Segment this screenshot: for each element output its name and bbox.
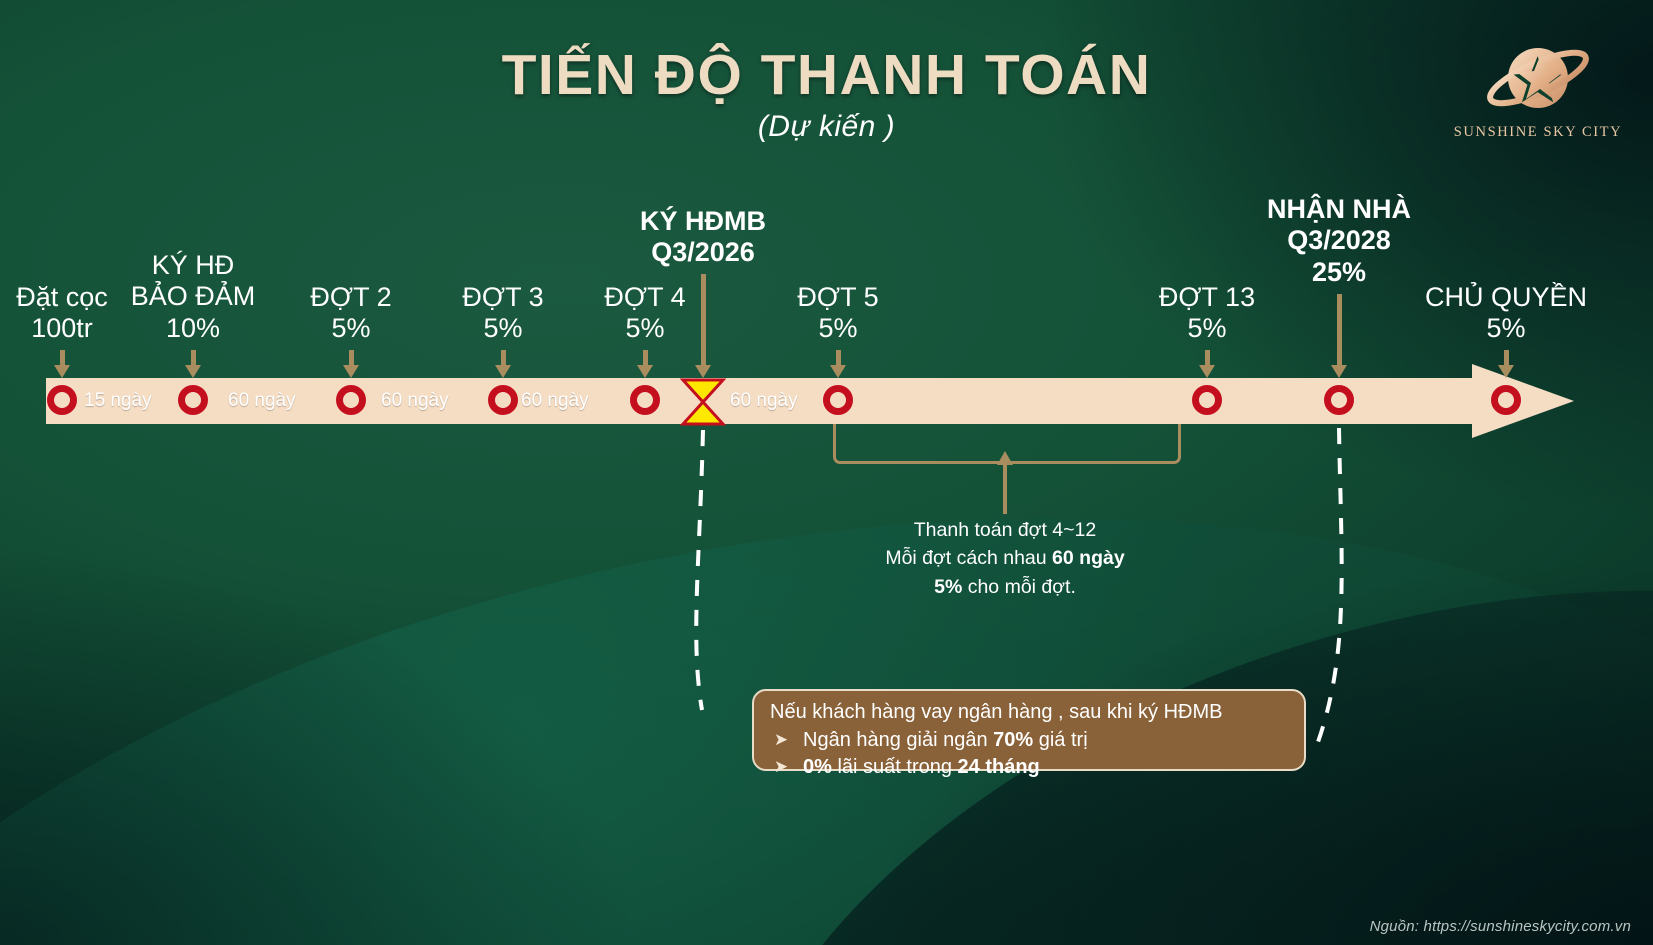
timeline-label-dot-2: ĐỢT 25%: [310, 282, 391, 345]
bank-callout-row-2: ➤ 0% lãi suất trong 24 tháng: [770, 754, 1288, 780]
bank-loan-callout: Nếu khách hàng vay ngân hàng , sau khi k…: [752, 689, 1306, 771]
timeline-label-dot-4-line-1: ĐỢT 4: [604, 282, 685, 313]
timeline-label-dot-4-line-2: 5%: [604, 313, 685, 344]
hourglass-icon: [680, 378, 726, 426]
timeline-gap-gap-1: 15 ngày: [84, 390, 152, 412]
bank-row-1-suffix: giá trị: [1033, 729, 1087, 751]
annotation-line-3-bold: 5%: [934, 576, 962, 598]
timeline-gap-gap-2: 60 ngày: [228, 390, 296, 412]
timeline-marker-hourglass-ky-hdmb[interactable]: [680, 378, 726, 426]
page-subtitle: (Dự kiến ): [0, 110, 1653, 144]
lead-arrow-dot-4: [643, 350, 648, 366]
bank-row-1-text: Ngân hàng giải ngân 70% giá trị: [803, 727, 1088, 753]
timeline-marker-dot-2[interactable]: [336, 385, 366, 415]
timeline-label-dot-3: ĐỢT 35%: [462, 282, 543, 345]
bank-callout-title: Nếu khách hàng vay ngân hàng , sau khi k…: [770, 700, 1288, 726]
timeline-label-dot-4: ĐỢT 45%: [604, 282, 685, 345]
bank-row-2-bold2: 24 tháng: [958, 756, 1040, 778]
page-title: TIẾN ĐỘ THANH TOÁN: [0, 42, 1653, 108]
timeline-label-dot-5: ĐỢT 55%: [797, 282, 878, 345]
timeline-label-nhan-nha-line-2: Q3/2028: [1267, 225, 1411, 256]
bank-row-1-bold: 70%: [993, 729, 1033, 751]
bank-row-1-prefix: Ngân hàng giải ngân: [803, 729, 993, 751]
timeline-label-chu-quyen-line-1: CHỦ QUYỀN: [1425, 282, 1587, 313]
timeline-label-ky-hdmb-line-2: Q3/2026: [640, 237, 766, 268]
bank-row-2-text: 0% lãi suất trong 24 tháng: [803, 754, 1040, 780]
timeline-label-ky-hd-bao-dam-line-2: BẢO ĐẢM: [131, 281, 256, 312]
timeline-label-dot-2-line-2: 5%: [310, 313, 391, 344]
timeline-marker-dot-3[interactable]: [488, 385, 518, 415]
bank-callout-row-1: ➤ Ngân hàng giải ngân 70% giá trị: [770, 727, 1288, 753]
bullet-arrow-icon: ➤: [770, 729, 792, 751]
lead-arrow-dot-5: [836, 350, 841, 366]
timeline-marker-dat-coc[interactable]: [47, 385, 77, 415]
annotation-line-2-bold: 60 ngày: [1052, 547, 1125, 569]
annotation-line-3: 5% cho mỗi đợt.: [885, 573, 1124, 601]
lead-arrow-nhan-nha: [1337, 294, 1342, 366]
timeline-label-dot-13: ĐỢT 135%: [1159, 282, 1255, 345]
timeline-label-dat-coc-line-1: Đặt cọc: [16, 282, 108, 313]
lead-arrow-dot-2: [349, 350, 354, 366]
lead-arrow-dot-3: [501, 350, 506, 366]
timeline-label-ky-hdmb: KÝ HĐMBQ3/2026: [640, 206, 766, 269]
timeline-label-dot-3-line-2: 5%: [462, 313, 543, 344]
timeline-label-chu-quyen-line-2: 5%: [1425, 313, 1587, 344]
timeline-label-nhan-nha: NHẬN NHÀQ3/202825%: [1267, 194, 1411, 288]
annotation-line-2-prefix: Mỗi đợt cách nhau: [885, 547, 1052, 569]
timeline-label-ky-hdmb-line-1: KÝ HĐMB: [640, 206, 766, 237]
timeline-label-dot-5-line-1: ĐỢT 5: [797, 282, 878, 313]
annotation-line-2: Mỗi đợt cách nhau 60 ngày: [885, 544, 1124, 572]
bank-row-2-bold: 0%: [803, 756, 832, 778]
timeline-arrowhead-icon: [1472, 364, 1574, 438]
lead-arrow-ky-hd-bao-dam: [191, 350, 196, 366]
timeline-marker-chu-quyen[interactable]: [1491, 385, 1521, 415]
timeline-label-dat-coc-line-2: 100tr: [16, 313, 108, 344]
timeline-label-dat-coc: Đặt cọc100tr: [16, 282, 108, 345]
installment-annotation: Thanh toán đợt 4~12 Mỗi đợt cách nhau 60…: [885, 516, 1124, 601]
timeline-marker-ky-hd-bao-dam[interactable]: [178, 385, 208, 415]
annotation-line-1: Thanh toán đợt 4~12: [885, 516, 1124, 544]
lead-arrow-chu-quyen: [1504, 350, 1509, 366]
timeline-marker-dot-5[interactable]: [823, 385, 853, 415]
lead-arrow-dot-13: [1205, 350, 1210, 366]
bullet-arrow-icon: ➤: [770, 756, 792, 778]
timeline-label-dot-5-line-2: 5%: [797, 313, 878, 344]
lead-arrow-dat-coc: [60, 350, 65, 366]
brand-logo: SUNSHINE SKY CITY: [1452, 36, 1624, 148]
timeline-label-nhan-nha-line-1: NHẬN NHÀ: [1267, 194, 1411, 225]
timeline-label-dot-13-line-2: 5%: [1159, 313, 1255, 344]
timeline-label-dot-13-line-1: ĐỢT 13: [1159, 282, 1255, 313]
timeline-gap-gap-3: 60 ngày: [381, 390, 449, 412]
bank-row-2-mid: lãi suất trong: [832, 756, 958, 778]
timeline-label-nhan-nha-line-3: 25%: [1267, 257, 1411, 288]
timeline-label-dot-3-line-1: ĐỢT 3: [462, 282, 543, 313]
timeline-label-dot-2-line-1: ĐỢT 2: [310, 282, 391, 313]
lead-arrow-ky-hdmb: [701, 274, 706, 366]
timeline-label-ky-hd-bao-dam: KÝ HĐBẢO ĐẢM10%: [131, 250, 256, 344]
source-footer: Nguồn: https://sunshineskycity.com.vn: [1370, 918, 1631, 935]
timeline-label-ky-hd-bao-dam-line-1: KÝ HĐ: [131, 250, 256, 281]
timeline-marker-dot-13[interactable]: [1192, 385, 1222, 415]
bracket-arrow-icon: [1003, 464, 1007, 514]
brand-logo-text: SUNSHINE SKY CITY: [1452, 124, 1624, 141]
timeline-label-ky-hd-bao-dam-line-3: 10%: [131, 313, 256, 344]
planet-star-icon: [1452, 36, 1624, 128]
annotation-line-3-suffix: cho mỗi đợt.: [962, 576, 1076, 598]
timeline-gap-gap-4: 60 ngày: [521, 390, 589, 412]
timeline-label-chu-quyen: CHỦ QUYỀN5%: [1425, 282, 1587, 345]
timeline-marker-dot-4[interactable]: [630, 385, 660, 415]
timeline-marker-nhan-nha[interactable]: [1324, 385, 1354, 415]
timeline-gap-gap-5: 60 ngày: [730, 390, 798, 412]
